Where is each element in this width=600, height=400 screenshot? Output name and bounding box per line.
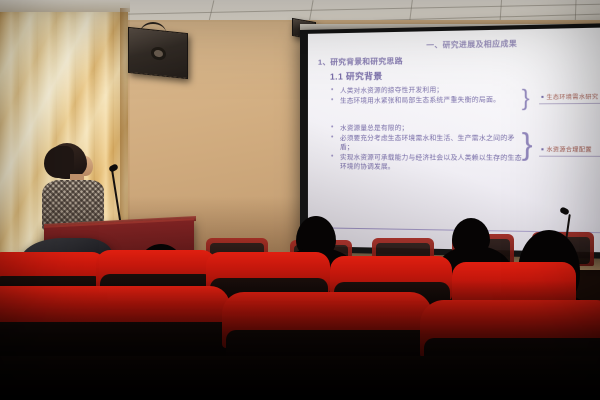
theater-seat-nearest[interactable] — [0, 356, 600, 400]
bullet-item: 水资源量总是有限的； — [340, 123, 524, 133]
lecture-room-photo: 一、研究进展及相应成果 1、研究背景和研究思路 1.1 研究背景 人类对水资源的… — [0, 0, 600, 400]
slide-section-heading: 1、研究背景和研究思路 — [318, 52, 600, 68]
slide-annotation-2: 水资源合理配置 — [541, 145, 592, 154]
presentation-slide: 一、研究进展及相应成果 1、研究背景和研究思路 1.1 研究背景 人类对水资源的… — [308, 27, 600, 252]
slide-annotation-1: 生态环境需水研究 — [541, 92, 598, 101]
slide-header: 一、研究进展及相应成果 — [342, 36, 600, 52]
slide-block-2: 水资源量总是有限的； 必须要充分考虑生态环境需水和生活、生产需水之间的矛盾； 实… — [316, 123, 600, 173]
projection-screen-frame: 一、研究进展及相应成果 1、研究背景和研究思路 1.1 研究背景 人类对水资源的… — [300, 23, 600, 259]
projection-screen: 一、研究进展及相应成果 1、研究背景和研究思路 1.1 研究背景 人类对水资源的… — [308, 27, 600, 252]
bullet-item: 人类对水资源的掠夺性开发利用； — [340, 85, 524, 96]
bullet-item: 生态环境用水紧张和局部生态系统严重失衡的局面。 — [340, 95, 524, 106]
speaker-cone-icon — [154, 50, 163, 58]
annotation-underline — [539, 103, 600, 105]
slide-block-1: 人类对水资源的掠夺性开发利用； 生态环境用水紧张和局部生态系统严重失衡的局面。 … — [316, 84, 600, 106]
wall-speaker-left — [128, 27, 188, 79]
bullet-item: 必须要充分考虑生态环境需水和生活、生产需水之间的矛盾； — [340, 134, 524, 153]
blinds-headrail — [0, 0, 130, 12]
bullet-item: 实现水资源可承载能力与经济社会以及人类赖以生存的生态环境的协调发展。 — [340, 153, 524, 172]
brace-icon: } — [522, 87, 530, 110]
brace-icon: } — [522, 129, 533, 160]
slide-subsection-heading: 1.1 研究背景 — [330, 67, 600, 83]
